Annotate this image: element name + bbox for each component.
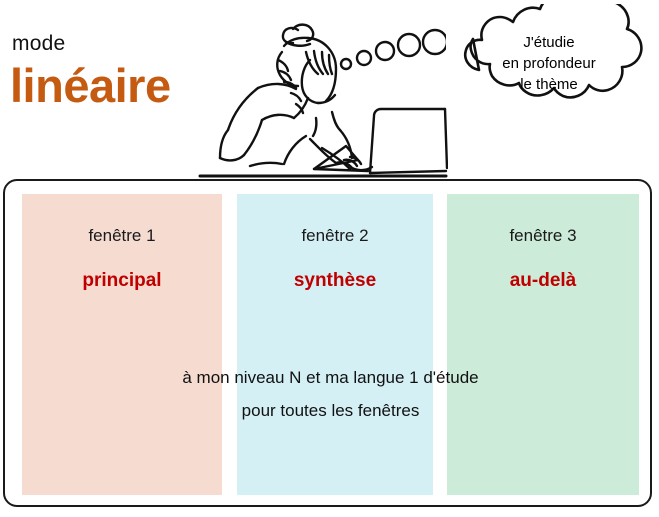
- thought-line-1: J'étudie: [465, 32, 633, 53]
- window-panel-1[interactable]: fenêtre 1 principal: [22, 194, 222, 495]
- window-panel-2[interactable]: fenêtre 2 synthèse: [237, 194, 433, 495]
- thought-bubble-dots: [336, 22, 446, 72]
- window-panel-1-mode: principal: [22, 269, 222, 293]
- mode-name-title: linéaire: [10, 58, 171, 113]
- window-panel-3[interactable]: fenêtre 3 au-delà: [447, 194, 639, 495]
- thought-line-3: le thème: [465, 74, 633, 95]
- window-panel-3-label: fenêtre 3: [447, 225, 639, 247]
- thought-dot-4: [398, 34, 420, 56]
- window-panel-3-mode: au-delà: [447, 269, 639, 293]
- windows-frame: fenêtre 1 principal fenêtre 2 synthèse f…: [3, 179, 652, 507]
- thought-dot-5: [423, 30, 446, 54]
- mode-label: mode: [12, 32, 65, 56]
- thought-dot-2: [357, 51, 371, 65]
- window-panel-2-label: fenêtre 2: [237, 225, 433, 247]
- window-panel-2-mode: synthèse: [237, 269, 433, 293]
- thought-dot-3: [376, 42, 394, 60]
- thought-bubble: J'étudie en profondeur le thème: [443, 4, 655, 138]
- thought-line-2: en profondeur: [465, 53, 633, 74]
- thought-bubble-text: J'étudie en profondeur le thème: [465, 32, 633, 95]
- thought-dot-1: [341, 59, 351, 69]
- window-panel-1-label: fenêtre 1: [22, 225, 222, 247]
